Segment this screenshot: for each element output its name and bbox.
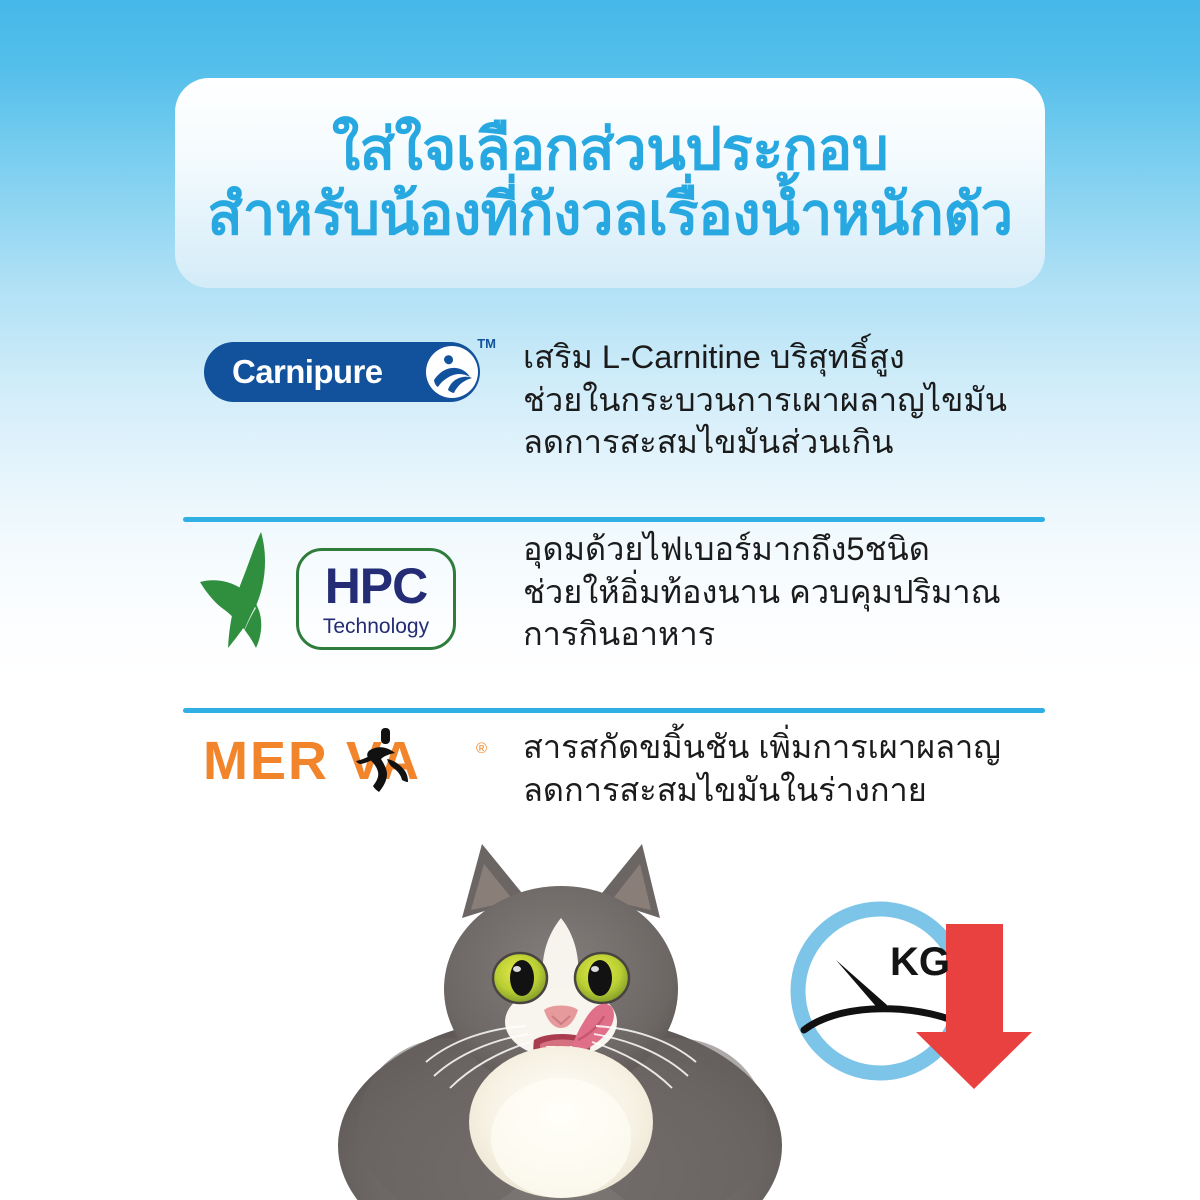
cat-photo: [330, 826, 790, 1200]
feature-row-carnipure: Carnipure TM เสริม L-Carnitine บริสุทธิ์…: [183, 336, 1045, 464]
feature-row-meriva: MER VA ® สารสกัดขมิ้นชัน เพิ่มการเผาผลาญ…: [183, 726, 1045, 811]
title-line-1: ใส่ใจเลือกส่วนประกอบ: [332, 118, 888, 183]
feature-text-line: ลดการสะสมไขมันส่วนเกิน: [523, 421, 1045, 464]
logo-cell-carnipure: Carnipure TM: [183, 336, 513, 402]
title-line-2: สำหรับน้องที่กังวลเรื่องน้ำหนักตัว: [207, 183, 1012, 248]
title-card: ใส่ใจเลือกส่วนประกอบ สำหรับน้องที่กังวลเ…: [175, 78, 1045, 288]
scale-needle: [836, 960, 887, 1011]
carnipure-figure-icon: [426, 346, 478, 398]
scale-arc: [804, 1009, 949, 1030]
hpc-main-text: HPC: [325, 561, 428, 611]
feature-text-line: สารสกัดขมิ้นชัน เพิ่มการเผาผลาญ: [523, 726, 1045, 769]
logo-cell-meriva: MER VA ®: [183, 726, 513, 796]
feature-text-line: ลดการสะสมไขมันในร่างกาย: [523, 769, 1045, 812]
carnipure-logo: Carnipure TM: [204, 336, 492, 402]
feature-text-line: เสริม L-Carnitine บริสุทธิ์สูง: [523, 336, 1045, 379]
feature-text-carnipure: เสริม L-Carnitine บริสุทธิ์สูง ช่วยในกระ…: [513, 336, 1045, 464]
carnipure-wordmark: Carnipure: [232, 353, 382, 391]
logo-cell-hpc: HPC Technology: [183, 528, 513, 658]
feature-text-line: อุดมด้วยไฟเบอร์มากถึง5ชนิด: [523, 528, 1045, 571]
carnipure-trademark-symbol: TM: [477, 336, 496, 351]
meriva-registered-symbol: ®: [476, 740, 487, 757]
feature-text-line: ช่วยให้อิ่มท้องนาน ควบคุมปริมาณ: [523, 571, 1045, 614]
feature-text-line: การกินอาหาร: [523, 613, 1045, 656]
meriva-logo: MER VA ®: [203, 726, 493, 796]
feature-text-meriva: สารสกัดขมิ้นชัน เพิ่มการเผาผลาญ ลดการสะส…: [513, 726, 1045, 811]
kg-label: KG: [890, 940, 950, 984]
running-figure-icon: [351, 726, 417, 796]
hpc-technology-logo: HPC Technology: [198, 528, 498, 658]
feature-text-hpc: อุดมด้วยไฟเบอร์มากถึง5ชนิด ช่วยให้อิ่มท้…: [513, 528, 1045, 656]
feature-text-line: ช่วยในกระบวนการเผาผลาญไขมัน: [523, 379, 1045, 422]
kg-weight-loss-icon: KG: [784, 893, 1034, 1108]
hpc-box: HPC Technology: [296, 548, 456, 650]
hpc-sub-text: Technology: [323, 616, 429, 637]
divider-1: [183, 517, 1045, 522]
poster-canvas: ใส่ใจเลือกส่วนประกอบ สำหรับน้องที่กังวลเ…: [0, 0, 1200, 1200]
divider-2: [183, 708, 1045, 713]
feature-row-hpc: HPC Technology อุดมด้วยไฟเบอร์มากถึง5ชนิ…: [183, 528, 1045, 658]
